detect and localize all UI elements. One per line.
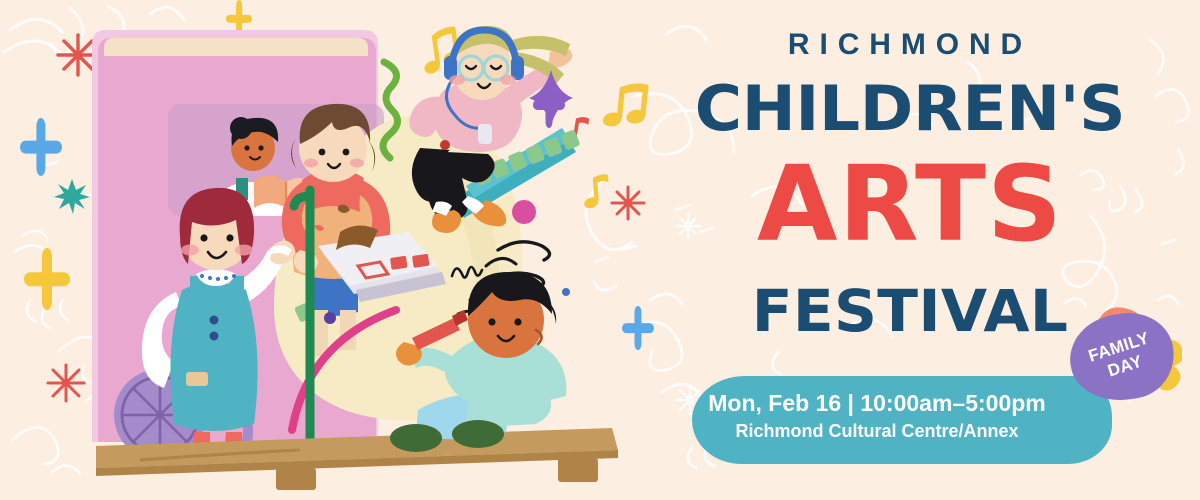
pink-dot — [512, 200, 536, 224]
event-datetime: Mon, Feb 16 | 10:00am–5:00pm — [692, 391, 1062, 416]
headline-arts: ARTS — [700, 152, 1120, 256]
blue-dot — [562, 288, 570, 296]
headline-childrens: CHILDREN'S — [692, 78, 1129, 140]
headline-block: RICHMOND CHILDREN'S ARTS FESTIVAL Mon, F… — [700, 0, 1200, 500]
purple-dot — [324, 312, 336, 324]
family-day-badge: FAMILY DAY — [1062, 300, 1182, 410]
event-venue: Richmond Cultural Centre/Annex — [692, 422, 1062, 442]
children-art-illustration — [0, 0, 700, 500]
eyebrow-richmond: RICHMOND — [700, 30, 1120, 60]
dark-red-dot — [440, 140, 450, 150]
dancing-girl — [409, 26, 572, 233]
event-info-pill: Mon, Feb 16 | 10:00am–5:00pm Richmond Cu… — [692, 376, 1112, 464]
badge-text: FAMILY DAY — [1059, 300, 1184, 414]
event-banner: RICHMOND CHILDREN'S ARTS FESTIVAL Mon, F… — [0, 0, 1200, 500]
